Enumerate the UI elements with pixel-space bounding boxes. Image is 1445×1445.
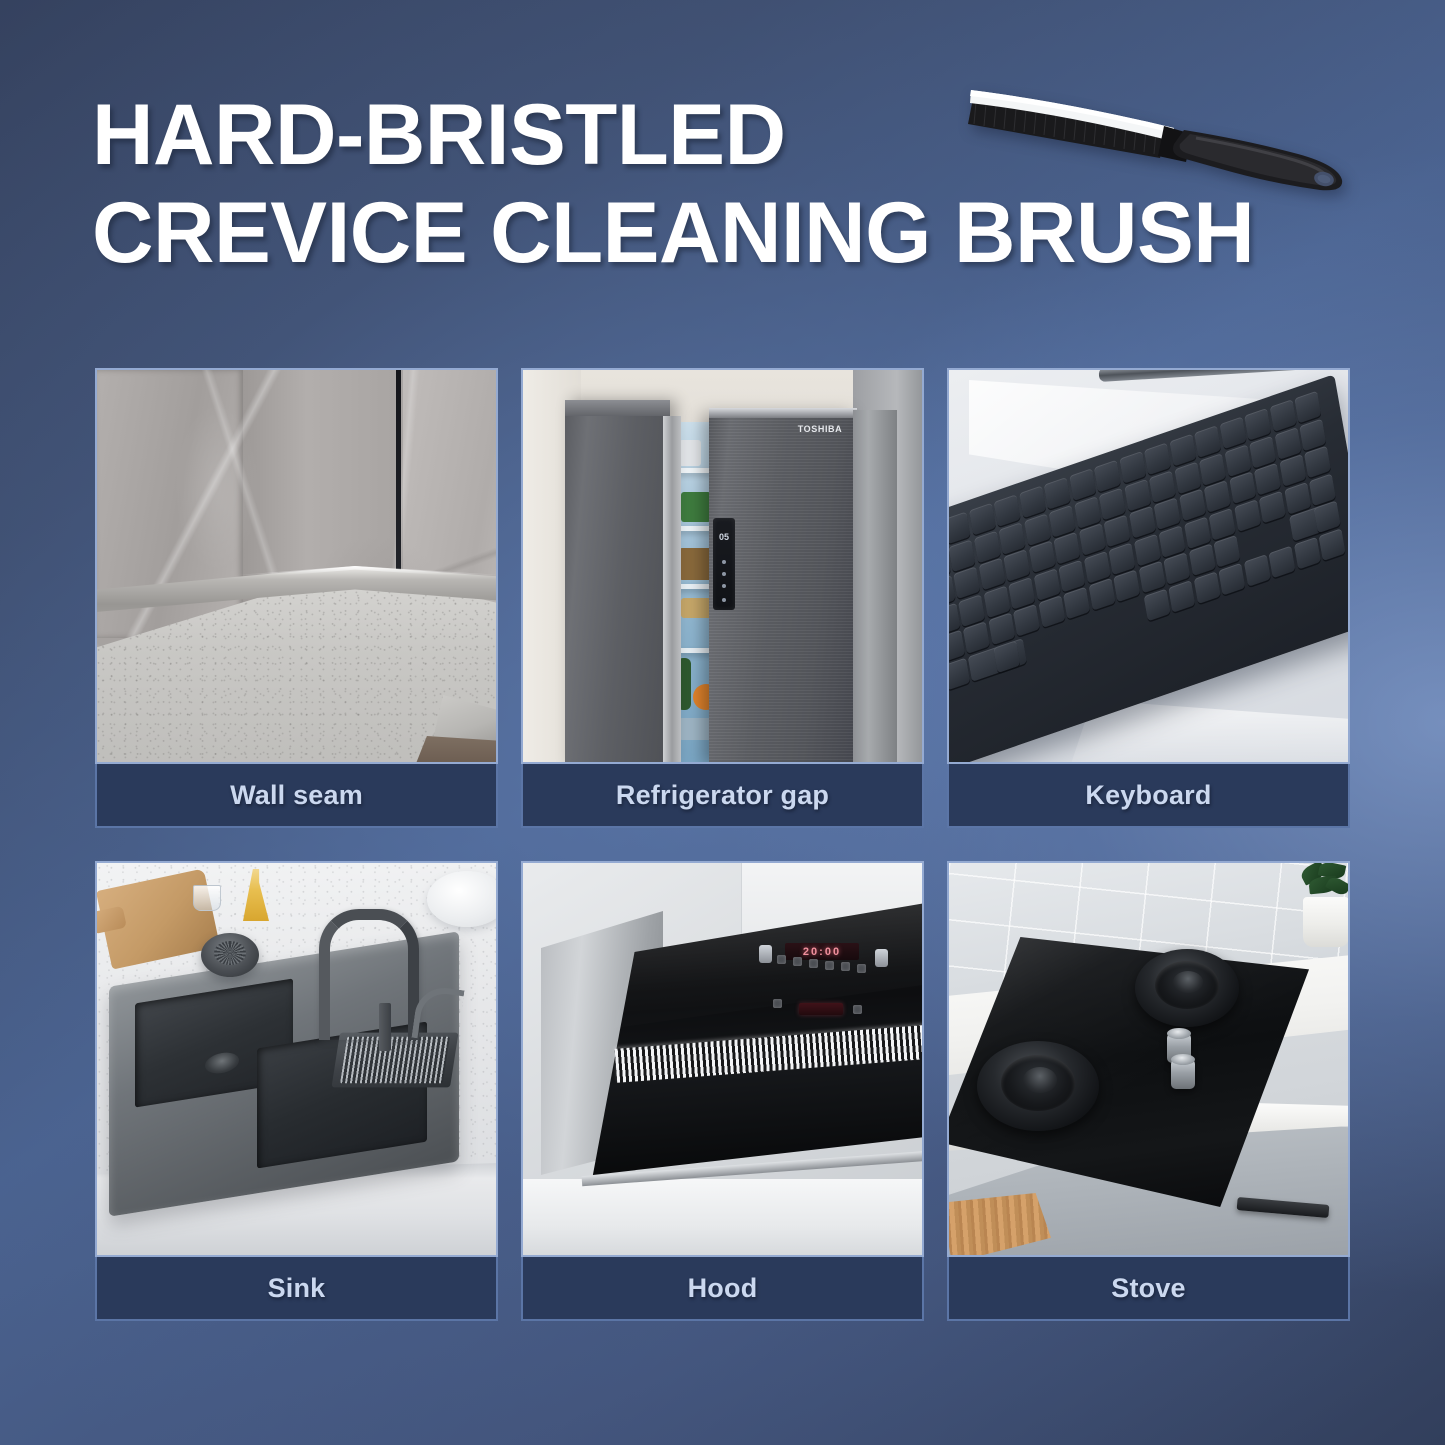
keyboard-key (1169, 434, 1196, 467)
keyboard-key (978, 558, 1005, 591)
keyboard-key (1193, 571, 1220, 604)
photo-stove (947, 861, 1350, 1257)
keyboard-key (1254, 463, 1281, 496)
use-case-card-hood[interactable]: 20:00 Hood (521, 861, 924, 1321)
keyboard-key (1194, 425, 1221, 458)
keyboard-key (993, 640, 1020, 673)
keyboard-key (1019, 486, 1046, 519)
keyboard-key (1243, 554, 1270, 587)
keyboard-key (1078, 523, 1105, 556)
keyboard-key (1213, 535, 1240, 568)
keyboard-key (969, 503, 996, 536)
potted-plant (1297, 863, 1350, 949)
keyboard-key (947, 511, 971, 544)
photo-refrigerator-gap: TOSHIBA 05 (521, 368, 924, 764)
use-case-grid: Wall seam (95, 368, 1350, 1321)
keyboard-key (1063, 587, 1090, 620)
keyboard-key (1188, 544, 1215, 577)
keyboard-key (1069, 468, 1096, 501)
keyboard-key (994, 494, 1021, 527)
keyboard-key (1144, 442, 1171, 475)
photo-wall-seam (95, 368, 498, 764)
photo-sink (95, 861, 498, 1257)
keyboard-key (1154, 497, 1181, 530)
keyboard-key (1219, 417, 1246, 450)
keyboard-key (1314, 500, 1341, 533)
glass-cup (193, 885, 221, 911)
caption-sink: Sink (95, 1257, 498, 1321)
keyboard-key (1129, 506, 1156, 539)
keyboard-key (1044, 477, 1071, 510)
keyboard-key (1113, 569, 1140, 602)
keyboard-key (1204, 480, 1231, 513)
plate (427, 871, 498, 927)
fridge-open-door (565, 400, 670, 764)
keyboard-key (1094, 460, 1121, 493)
keyboard-key (1103, 515, 1130, 548)
photo-keyboard (947, 368, 1350, 764)
keyboard-key (1028, 540, 1055, 573)
title-line-2: CREVICE CLEANING BRUSH (92, 184, 1339, 282)
keyboard-key (1119, 451, 1146, 484)
caption-refrigerator-gap: Refrigerator gap (521, 764, 924, 828)
keyboard-key (1163, 552, 1190, 585)
use-case-card-stove[interactable]: Stove (947, 861, 1350, 1321)
keyboard-key (953, 566, 980, 599)
keyboard-key (1318, 528, 1345, 561)
use-case-card-refrigerator-gap[interactable]: TOSHIBA 05 Refrigerator gap (521, 368, 924, 828)
keyboard-key (1179, 489, 1206, 522)
keyboard-key (1229, 471, 1256, 504)
photo-hood: 20:00 (521, 861, 924, 1257)
keyboard-key (1053, 532, 1080, 565)
keyboard-key (963, 621, 990, 654)
gooseneck-faucet (319, 909, 419, 1040)
keyboard-key (947, 657, 970, 690)
keyboard-key (988, 613, 1015, 646)
keyboard-key (1279, 454, 1306, 487)
desk-edge-bar (1099, 368, 1350, 382)
fridge-temperature-reading: 05 (713, 532, 735, 542)
caption-stove: Stove (947, 1257, 1350, 1321)
keyboard-key (1294, 391, 1321, 424)
caption-wall-seam: Wall seam (95, 764, 498, 828)
keyboard-key (1234, 499, 1261, 532)
fridge-control-panel: 05 (713, 518, 735, 610)
keyboard-key (1268, 545, 1295, 578)
keyboard-key (1038, 595, 1065, 628)
use-case-card-wall-seam[interactable]: Wall seam (95, 368, 498, 828)
keyboard-key (1088, 578, 1115, 611)
caption-keyboard: Keyboard (947, 764, 1350, 828)
keyboard-key (1013, 604, 1040, 637)
keyboard-key (1003, 549, 1030, 582)
keyboard-key (1259, 490, 1286, 523)
keyboard-key (1293, 536, 1320, 569)
use-case-card-keyboard[interactable]: Keyboard (947, 368, 1350, 828)
keyboard-key (1244, 408, 1271, 441)
crevice-brush-icon (946, 46, 1356, 196)
keyboard-key (1168, 580, 1195, 613)
caption-hood: Hood (521, 1257, 924, 1321)
product-infographic: HARD-BRISTLED CREVICE CLEANING BRUSH (0, 0, 1445, 1445)
keyboard-key (1269, 399, 1296, 432)
keyboard-key (1218, 562, 1245, 595)
use-case-card-sink[interactable]: Sink (95, 861, 498, 1321)
keyboard-key (1143, 588, 1170, 621)
keyboard-key (1304, 446, 1331, 479)
fridge-brand-label: TOSHIBA (791, 424, 849, 434)
keyboard-key (1138, 561, 1165, 594)
